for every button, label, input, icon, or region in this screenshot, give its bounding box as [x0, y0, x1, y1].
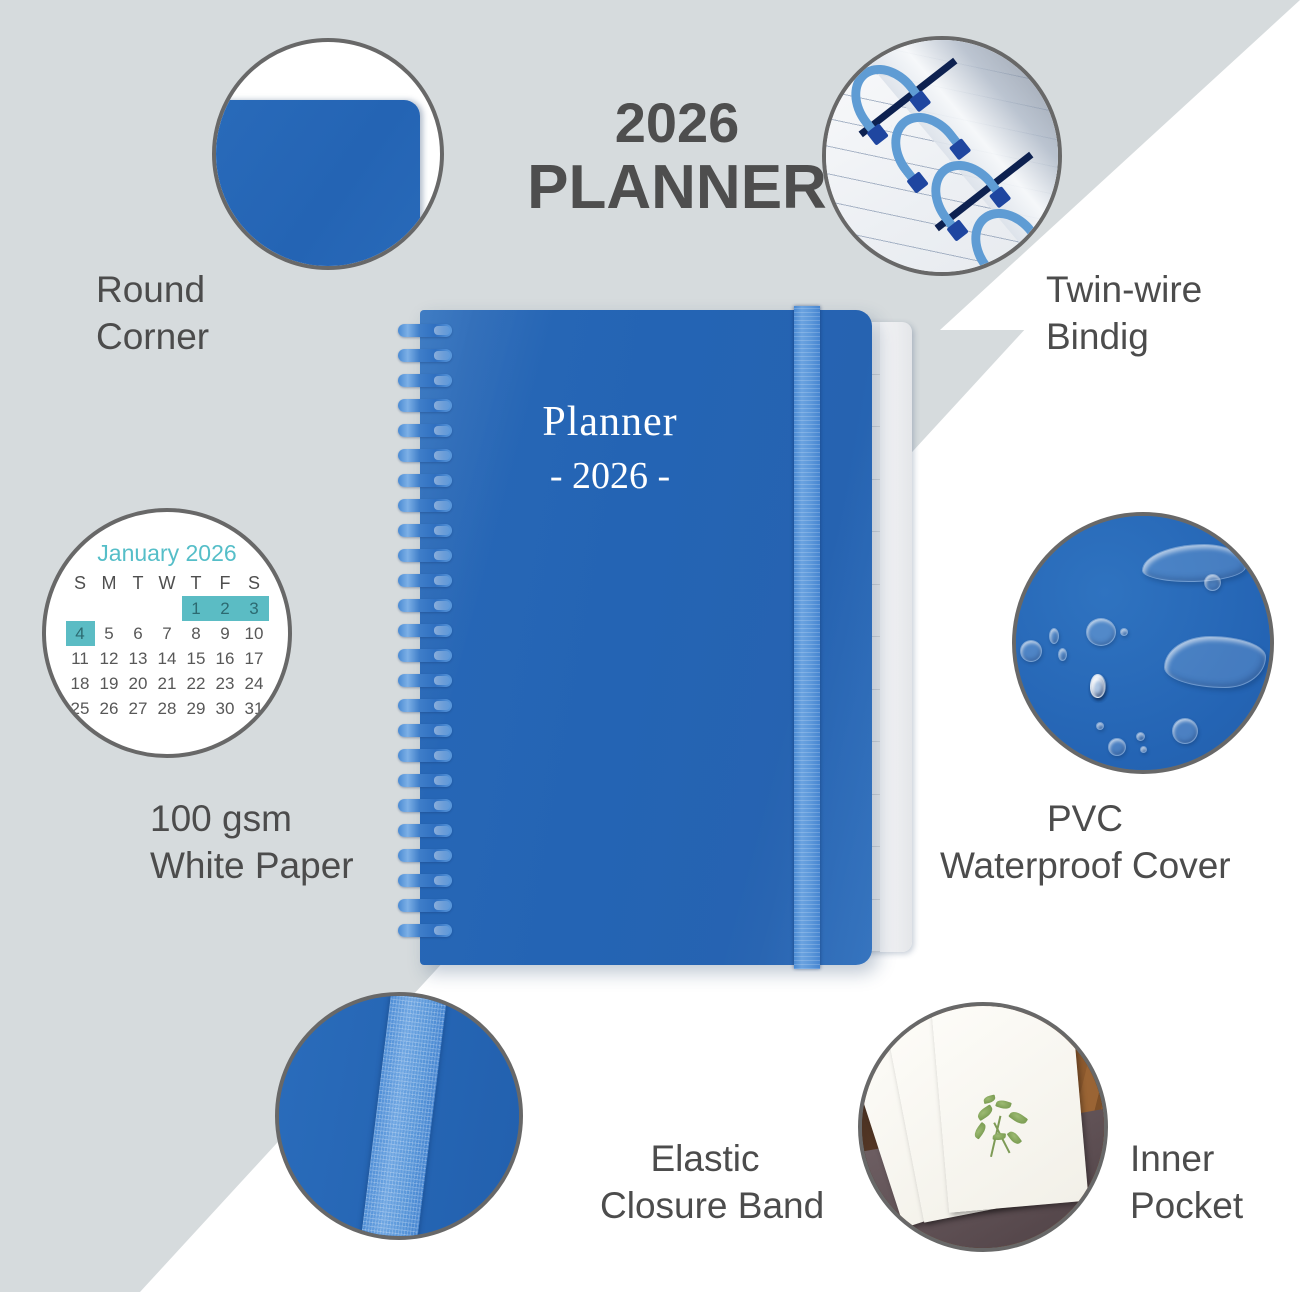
wire-coil [398, 899, 452, 912]
calendar-day-21[interactable]: 21 [153, 671, 182, 696]
calendar-week-row: 123 [66, 596, 269, 621]
calendar-month-title: January 2026 [97, 540, 236, 567]
waterproof-cover-icon [1012, 512, 1274, 774]
water-drop [1086, 618, 1116, 646]
paper-label-line2: White Paper [150, 842, 354, 889]
band-label-line1: Elastic [600, 1135, 810, 1182]
wire-coil [398, 774, 452, 787]
greeting-card: Thank you [931, 1002, 1088, 1213]
round-corner-icon [212, 38, 444, 270]
pvc-label-line1: PVC [940, 795, 1230, 842]
water-drop [1090, 674, 1106, 698]
calendar-day-7[interactable]: 7 [153, 621, 182, 646]
water-drop [1140, 746, 1147, 753]
calendar-day-empty [124, 596, 153, 621]
calendar-day-9[interactable]: 9 [211, 621, 240, 646]
wire-coil [398, 549, 452, 562]
elastic-band-icon [275, 992, 523, 1240]
cover-title: Planner - 2026 - [420, 398, 800, 498]
pvc-label-line2: Waterproof Cover [940, 842, 1231, 889]
wire-coil [398, 749, 452, 762]
calendar-day-20[interactable]: 20 [124, 671, 153, 696]
infographic-canvas: 2026 PLANNER Round Corner Twin-wire Bind… [0, 0, 1300, 1292]
wire-coil [398, 724, 452, 737]
water-drop [1096, 722, 1104, 730]
calendar-day-15[interactable]: 15 [182, 646, 211, 671]
calendar-day-26[interactable]: 26 [95, 696, 124, 721]
calendar-day-19[interactable]: 19 [95, 671, 124, 696]
calendar-day-4[interactable]: 4 [66, 621, 95, 646]
wire-coil [398, 624, 452, 637]
water-drop [1108, 738, 1126, 756]
title-year: 2026 [497, 95, 857, 151]
page-title: 2026 PLANNER [497, 95, 857, 219]
calendar-weekday-2: T [124, 571, 153, 596]
inner-pocket-icon: Thank you [858, 1002, 1108, 1252]
band-label-line2: Closure Band [600, 1182, 824, 1229]
round-corner-label-line2: Corner [96, 313, 209, 360]
cover-title-line1: Planner [420, 398, 800, 446]
water-blob [1164, 636, 1266, 688]
botanical-leaf [1008, 1109, 1028, 1127]
wire-coil [398, 574, 452, 587]
water-drop [1172, 718, 1198, 744]
paper-label-line1: 100 gsm [150, 795, 354, 842]
calendar-day-31[interactable]: 31 [240, 696, 269, 721]
calendar-weekday-1: M [95, 571, 124, 596]
water-drop [1136, 732, 1145, 741]
calendar-day-16[interactable]: 16 [211, 646, 240, 671]
wire-coil [398, 374, 452, 387]
twin-wire-binding-label: Twin-wire Bindig [1046, 266, 1202, 361]
wire-coil [398, 874, 452, 887]
twin-wire-label-line1: Twin-wire [1046, 266, 1202, 313]
wire-coil [398, 474, 452, 487]
wire-coil [398, 349, 452, 362]
calendar-page-icon: January 2026 SMTWTFS 1234567891011121314… [42, 508, 292, 758]
wire-coil [398, 449, 452, 462]
water-drop [1049, 628, 1059, 644]
wire-coil [398, 699, 452, 712]
water-drop [1120, 628, 1128, 636]
calendar-week-row: 18192021222324 [66, 671, 269, 696]
calendar-grid: SMTWTFS 12345678910111213141516171819202… [66, 571, 269, 721]
twin-wire-spiral [398, 324, 454, 952]
calendar-day-empty [66, 596, 95, 621]
calendar-day-28[interactable]: 28 [153, 696, 182, 721]
planner-front-cover: Planner - 2026 - [420, 310, 872, 965]
calendar-weekday-5: F [211, 571, 240, 596]
calendar-day-2[interactable]: 2 [211, 596, 240, 621]
botanical-leaf [1007, 1129, 1022, 1146]
calendar-day-29[interactable]: 29 [182, 696, 211, 721]
calendar-day-24[interactable]: 24 [240, 671, 269, 696]
inner-pocket-label: Inner Pocket [1130, 1135, 1243, 1230]
wire-coil [398, 324, 452, 337]
wire-coil [398, 674, 452, 687]
wire-coil [398, 649, 452, 662]
calendar-weekday-row: SMTWTFS [66, 571, 269, 596]
calendar-day-22[interactable]: 22 [182, 671, 211, 696]
calendar-day-empty [95, 596, 124, 621]
waterproof-cover-label: PVC Waterproof Cover [940, 795, 1231, 890]
calendar-weekday-6: S [240, 571, 269, 596]
water-drop [1020, 640, 1042, 662]
elastic-closure-band-label: Elastic Closure Band [600, 1135, 824, 1230]
title-word: PLANNER [497, 157, 857, 219]
calendar-day-5[interactable]: 5 [95, 621, 124, 646]
botanical-leaf [976, 1104, 995, 1121]
calendar-day-3[interactable]: 3 [240, 596, 269, 621]
calendar-day-27[interactable]: 27 [124, 696, 153, 721]
calendar-week-row: 11121314151617 [66, 646, 269, 671]
calendar-week-row: 25262728293031 [66, 696, 269, 721]
round-corner-label-line1: Round [96, 266, 209, 313]
water-drop [1204, 574, 1221, 591]
pocket-label-line1: Inner [1130, 1135, 1243, 1182]
calendar-weekday-3: W [153, 571, 182, 596]
wire-coil [398, 849, 452, 862]
calendar-day-empty [153, 596, 182, 621]
botanical-leaf [972, 1122, 988, 1140]
calendar-week-row: 45678910 [66, 621, 269, 646]
calendar-weekday-0: S [66, 571, 95, 596]
calendar-day-6[interactable]: 6 [124, 621, 153, 646]
wire-coil [398, 599, 452, 612]
paper-weight-label: 100 gsm White Paper [150, 795, 354, 890]
calendar-day-23[interactable]: 23 [211, 671, 240, 696]
wire-coil [398, 824, 452, 837]
water-drop [1058, 648, 1067, 661]
twin-wire-binding-icon [822, 36, 1062, 276]
calendar-day-12[interactable]: 12 [95, 646, 124, 671]
round-corner-label: Round Corner [96, 266, 209, 361]
wire-coil [398, 924, 452, 937]
calendar-day-14[interactable]: 14 [153, 646, 182, 671]
planner-product-image: JanFebMarAprMayJunJulAugSepOctNovDec Pla… [398, 310, 918, 970]
rounded-corner-sheet [212, 100, 420, 270]
botanical-leaf [995, 1099, 1012, 1111]
wire-coil [398, 799, 452, 812]
calendar-day-1[interactable]: 1 [182, 596, 211, 621]
pocket-label-line2: Pocket [1130, 1182, 1243, 1229]
calendar-day-17[interactable]: 17 [240, 646, 269, 671]
botanical-leaf [983, 1095, 996, 1105]
calendar-day-18[interactable]: 18 [66, 671, 95, 696]
calendar-day-30[interactable]: 30 [211, 696, 240, 721]
calendar-day-13[interactable]: 13 [124, 646, 153, 671]
elastic-closure-band [794, 306, 820, 969]
wire-coil [398, 499, 452, 512]
calendar-day-25[interactable]: 25 [66, 696, 95, 721]
cover-title-line2: - 2026 - [420, 454, 800, 498]
wire-coil [398, 424, 452, 437]
calendar-day-11[interactable]: 11 [66, 646, 95, 671]
calendar-day-8[interactable]: 8 [182, 621, 211, 646]
wire-coil [398, 524, 452, 537]
calendar-weekday-4: T [182, 571, 211, 596]
twin-wire-label-line2: Bindig [1046, 313, 1202, 360]
calendar-day-10[interactable]: 10 [240, 621, 269, 646]
wire-coil [398, 399, 452, 412]
